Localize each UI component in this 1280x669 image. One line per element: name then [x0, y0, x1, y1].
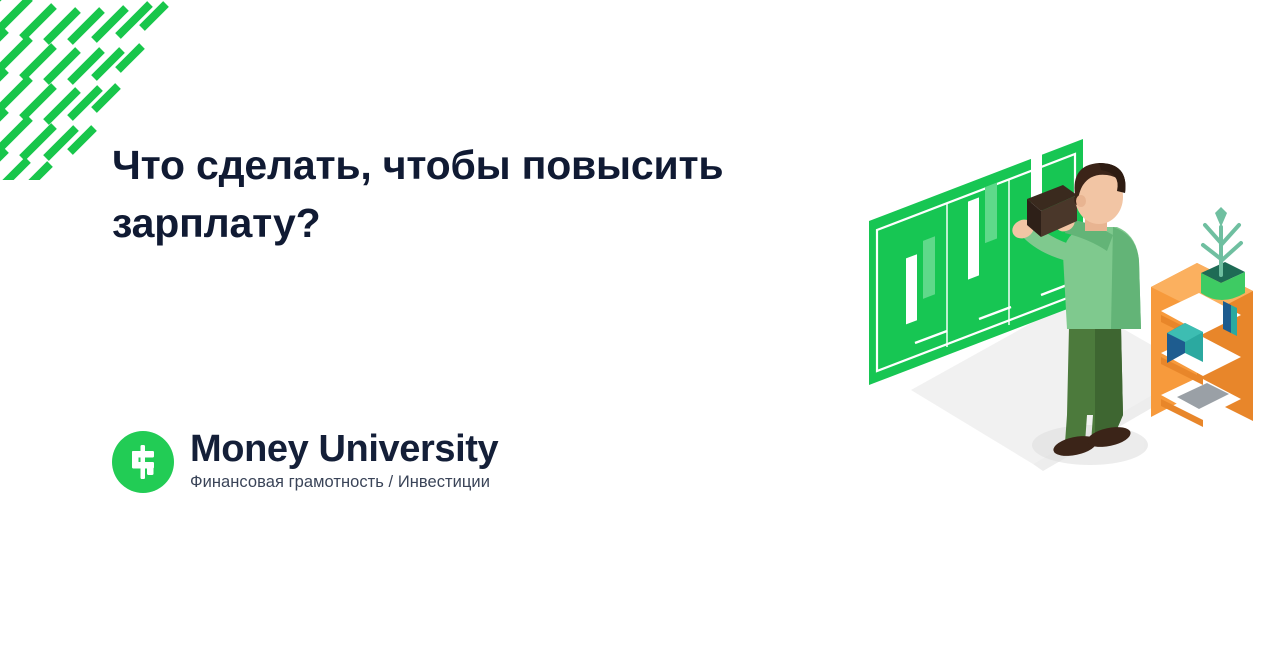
potted-plant — [1201, 207, 1245, 300]
brand-logo-lockup[interactable]: Money University Финансовая грамотность … — [112, 430, 498, 493]
bookshelf — [1151, 207, 1253, 427]
logo-text-block: Money University Финансовая грамотность … — [190, 430, 498, 493]
logo-wordmark: Money University — [190, 430, 498, 470]
dollar-sign-icon — [126, 443, 160, 481]
slide-canvas: Что сделать, чтобы повысить зарплату? Mo… — [0, 0, 1280, 669]
page-title: Что сделать, чтобы повысить зарплату? — [112, 136, 872, 252]
logo-mark — [112, 431, 174, 493]
person-presenting-bar-chart-illustration — [855, 115, 1280, 525]
logo-tagline: Финансовая грамотность / Инвестиции — [190, 472, 498, 493]
